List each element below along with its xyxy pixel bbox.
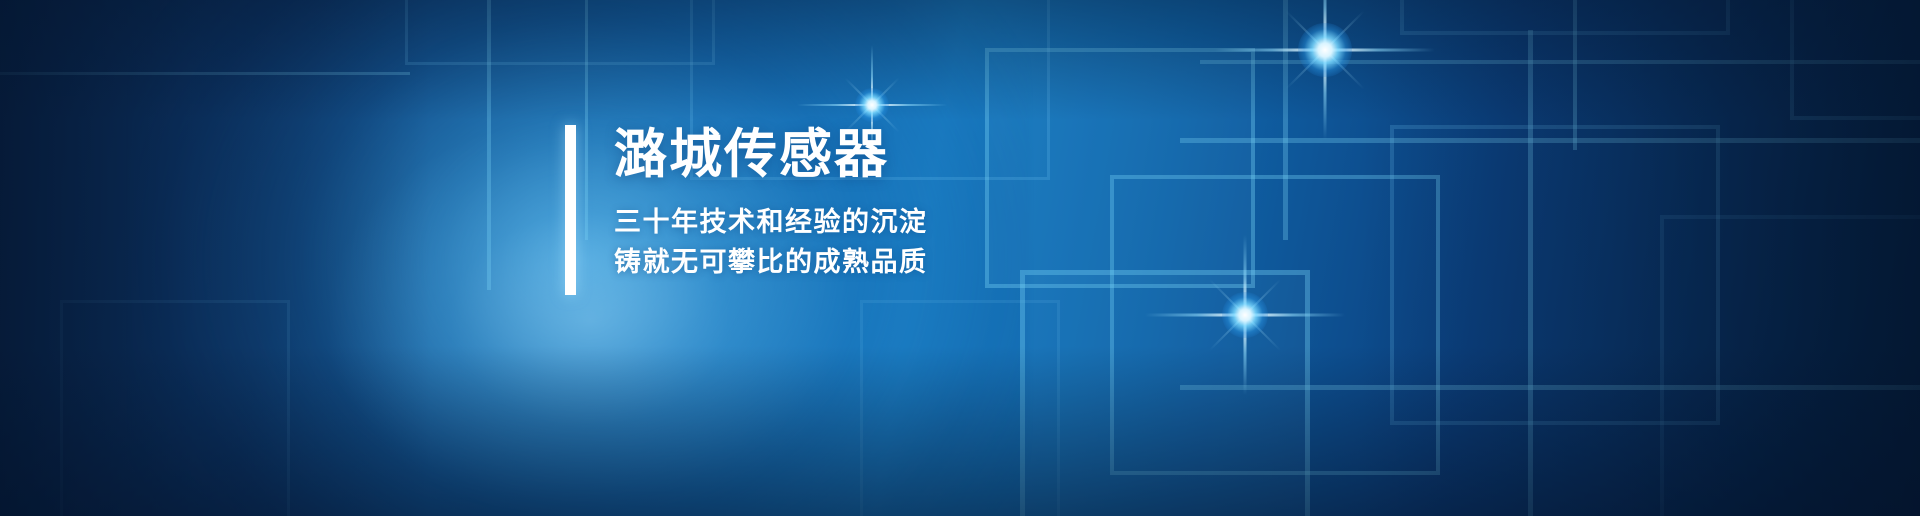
hero-banner: 潞城传感器 三十年技术和经验的沉淀 铸就无可攀比的成熟品质 bbox=[0, 0, 1920, 516]
banner-subtitle: 三十年技术和经验的沉淀 铸就无可攀比的成熟品质 bbox=[614, 203, 928, 283]
banner-text-block: 潞城传感器 三十年技术和经验的沉淀 铸就无可攀比的成熟品质 bbox=[565, 125, 928, 295]
banner-subtitle-line-1: 三十年技术和经验的沉淀 bbox=[614, 203, 928, 243]
vignette-top bbox=[0, 0, 1920, 120]
accent-bar bbox=[565, 125, 576, 295]
banner-title: 潞城传感器 bbox=[614, 127, 928, 183]
banner-copy: 潞城传感器 三十年技术和经验的沉淀 铸就无可攀比的成熟品质 bbox=[614, 125, 928, 283]
banner-subtitle-line-2: 铸就无可攀比的成熟品质 bbox=[614, 243, 928, 283]
vignette-bottom bbox=[0, 346, 1920, 516]
